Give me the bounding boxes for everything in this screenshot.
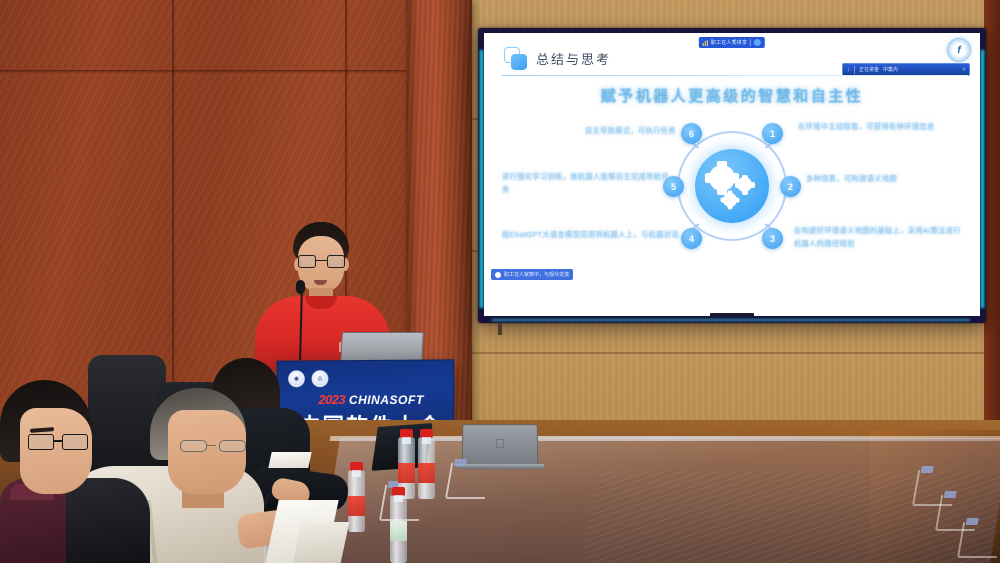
diagram-core [695, 149, 769, 223]
diagram-node-3: 3 [762, 228, 783, 249]
diagram-node-4: 4 [681, 228, 702, 249]
stream-overlay-badge-top: 职工在人秀拼享 [699, 37, 765, 48]
slide-note-left-2: 进行强化学习训练，使机器人能够自主完成导航任务 [502, 171, 674, 196]
macbook-laptop[interactable]:  [462, 424, 539, 465]
screen-brand-plate [710, 313, 754, 316]
water-bottle [348, 470, 365, 532]
name-card-holder [445, 463, 491, 499]
chevron-left-icon[interactable]: « [962, 66, 965, 73]
cycle-diagram: 1 2 3 4 5 6 [661, 115, 803, 257]
podium-year: 2023 [318, 392, 345, 407]
record-dot-icon [495, 272, 501, 278]
gear-icon [737, 177, 752, 192]
slide-note-left-3: 指ChatGPT大语言模型应用到机器人上，与机器对话 [502, 229, 680, 242]
screen-surface: 职工在人秀拼享 f ↓ 正在讲金 中集内 « [484, 33, 980, 316]
stacked-squares-icon [504, 47, 527, 70]
gear-icon [723, 193, 737, 207]
paper-sheet [293, 522, 350, 563]
stream-overlay-badge-bottom: 职工在人家族中，与观众交流 [491, 269, 573, 280]
apple-logo-icon:  [494, 437, 505, 450]
diagram-node-5: 5 [663, 176, 684, 197]
signal-bars-icon [703, 40, 708, 46]
live-bar-label: 正在讲金 [859, 66, 879, 73]
emblem-right-icon: ◎ [312, 370, 329, 387]
slide-divider [502, 75, 968, 76]
panelist-left-face [20, 408, 92, 494]
name-card-holder [957, 522, 1000, 558]
slide-note-left-1: 自主导航模式，可执行任务 [526, 125, 676, 138]
speaker-glasses-icon [298, 255, 345, 268]
wall-seam [172, 0, 175, 420]
paper-sheet [268, 452, 311, 468]
screenshot-scene: 职工在人秀拼享 f ↓ 正在讲金 中集内 « [0, 0, 1000, 563]
water-bottle [390, 495, 407, 563]
wall-seam [472, 352, 1000, 354]
panelist-center-glasses-icon [180, 440, 246, 452]
slide-note-right-2: 多种场景，可构建语义地图 [806, 173, 966, 186]
screen-stand [498, 323, 502, 335]
slide-header: 总结与思考 [504, 47, 611, 70]
stream-badge-label: 职工在人秀拼享 [711, 39, 747, 46]
podium-title-en-row: 2023 CHINASOFT [318, 392, 423, 407]
logo-glyph: f [957, 45, 960, 56]
screen-edge-glow [981, 50, 984, 308]
diagram-node-2: 2 [780, 176, 801, 197]
slide-title: 总结与思考 [536, 49, 611, 68]
diagram-node-6: 6 [681, 123, 702, 144]
live-bar-label-2: 中集内 [883, 66, 898, 73]
divider [750, 39, 751, 46]
podium-english-name: CHINASOFT [349, 393, 424, 407]
divider [854, 66, 855, 74]
bottom-badge-label: 职工在人家族中，与观众交流 [504, 271, 569, 278]
panelist-left-glasses-icon [28, 434, 88, 450]
wall-seam [0, 70, 406, 73]
slide-heading: 赋予机器人更高级的智慧和自主性 [484, 85, 980, 106]
diagram-node-1: 1 [762, 123, 783, 144]
slide-note-right-3: 在构建好环境语义地图的基础上，采用AI算法进行机器人的路径规划 [794, 225, 966, 250]
emblem-left-icon: ◉ [288, 370, 305, 387]
water-bottle [418, 437, 435, 499]
download-arrow-icon: ↓ [847, 67, 850, 73]
conference-logo-icon: f [947, 38, 971, 62]
presentation-display[interactable]: 职工在人秀拼享 f ↓ 正在讲金 中集内 « [478, 28, 986, 323]
square-filled [511, 54, 527, 70]
screen-edge-glow [480, 50, 483, 308]
slide: 职工在人秀拼享 f ↓ 正在讲金 中集内 « [484, 33, 980, 316]
screen-edge-glow [492, 319, 970, 321]
panelist-center-face [168, 410, 246, 494]
slide-note-right-1: 在环境中主动探索，可获得各种环境信息 [798, 121, 966, 134]
share-icon [754, 39, 761, 46]
podium-emblems: ◉ ◎ [288, 370, 328, 387]
wall-right-edge [984, 0, 1000, 480]
gear-icon [709, 165, 735, 191]
microphone-icon [296, 280, 305, 294]
